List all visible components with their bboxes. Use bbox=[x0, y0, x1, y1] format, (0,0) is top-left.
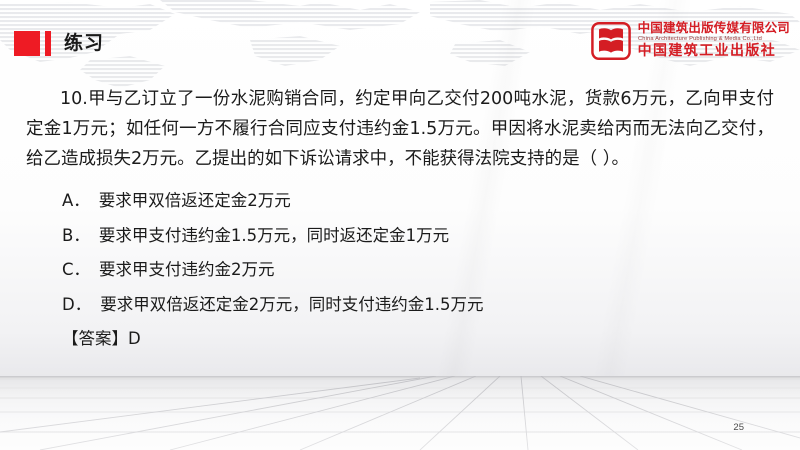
answer-row: 【答案】D bbox=[62, 324, 800, 354]
answer-label: 【答案】 bbox=[62, 329, 128, 348]
perspective-floor: 25 bbox=[0, 376, 800, 450]
red-square-accent-icon bbox=[14, 31, 40, 56]
option-text-a: 要求甲双倍返还定金2万元 bbox=[99, 191, 291, 210]
option-text-d: 要求甲双倍返还定金2万元，同时支付违约金1.5万元 bbox=[100, 295, 483, 314]
answer-value: D bbox=[128, 329, 141, 348]
options-list: A．要求甲双倍返还定金2万元 B．要求甲支付违约金1.5万元，同时返还定金1万元… bbox=[0, 184, 800, 322]
slide: 练习 中国建筑出版传媒有限公司 China Architecture Publi… bbox=[0, 0, 800, 450]
option-letter-d: D bbox=[62, 295, 75, 314]
floor-grid-icon bbox=[0, 376, 800, 450]
option-item-b[interactable]: B．要求甲支付违约金1.5万元，同时返还定金1万元 bbox=[62, 219, 800, 254]
publisher-imprint-cn: 中国建筑工业出版社 bbox=[638, 43, 790, 60]
publisher-logo-text: 中国建筑出版传媒有限公司 China Architecture Publishi… bbox=[638, 21, 790, 60]
slide-header: 练习 中国建筑出版传媒有限公司 China Architecture Publi… bbox=[0, 0, 800, 78]
option-text-b: 要求甲支付违约金1.5万元，同时返还定金1万元 bbox=[99, 226, 449, 245]
option-letter-a: A bbox=[62, 191, 73, 210]
option-item-a[interactable]: A．要求甲双倍返还定金2万元 bbox=[62, 184, 800, 219]
publisher-company-cn: 中国建筑出版传媒有限公司 bbox=[638, 21, 790, 35]
publisher-company-en: China Architecture Publishing & Media Co… bbox=[638, 35, 793, 43]
page-title: 练习 bbox=[64, 31, 104, 56]
publisher-logo: 中国建筑出版传媒有限公司 China Architecture Publishi… bbox=[591, 21, 790, 60]
option-separator-c: ． bbox=[74, 260, 91, 279]
open-book-logo-icon bbox=[591, 22, 631, 60]
page-number: 25 bbox=[733, 422, 744, 433]
option-text-c: 要求甲支付违约金2万元 bbox=[99, 260, 275, 279]
red-bar-accent-icon bbox=[45, 31, 51, 56]
option-item-c[interactable]: C．要求甲支付违约金2万元 bbox=[62, 253, 800, 288]
option-separator-b: ． bbox=[73, 226, 90, 245]
option-separator-a: ． bbox=[73, 191, 90, 210]
slide-content: 10.甲与乙订立了一份水泥购销合同，约定甲向乙交付200吨水泥，货款6万元，乙向… bbox=[0, 84, 800, 354]
option-letter-c: C bbox=[62, 260, 74, 279]
section-title-block: 练习 bbox=[14, 31, 104, 56]
option-letter-b: B bbox=[62, 226, 73, 245]
option-item-d[interactable]: D．要求甲双倍返还定金2万元，同时支付违约金1.5万元 bbox=[62, 288, 800, 323]
option-separator-d: ． bbox=[75, 295, 92, 314]
question-text: 10.甲与乙订立了一份水泥购销合同，约定甲向乙交付200吨水泥，货款6万元，乙向… bbox=[26, 84, 774, 174]
